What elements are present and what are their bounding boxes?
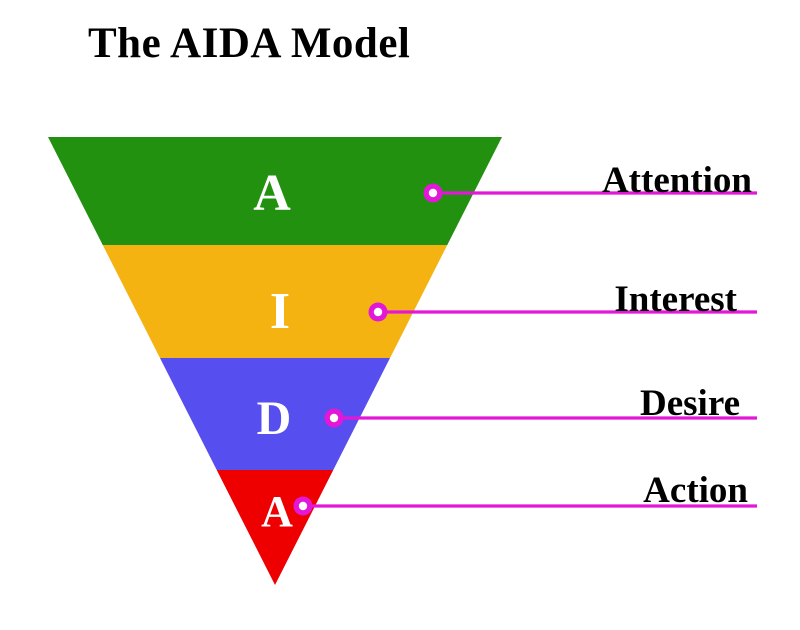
aida-model-diagram: The AIDA Model A I D A Attention Interes… bbox=[0, 0, 800, 630]
band-letter-attention: A bbox=[253, 168, 291, 220]
stage-marker-center-interest bbox=[374, 308, 382, 316]
band-letter-action: A bbox=[261, 490, 293, 534]
callout-label-action: Action bbox=[643, 472, 748, 509]
stage-marker-center-action bbox=[299, 502, 307, 510]
stage-marker-center-desire bbox=[330, 414, 338, 422]
callout-label-interest: Interest bbox=[614, 281, 737, 318]
callout-label-desire: Desire bbox=[640, 385, 740, 422]
band-letter-desire: D bbox=[257, 395, 292, 443]
callout-label-attention: Attention bbox=[602, 162, 752, 199]
stage-marker-center-attention bbox=[429, 189, 437, 197]
band-letter-interest: I bbox=[270, 286, 290, 338]
